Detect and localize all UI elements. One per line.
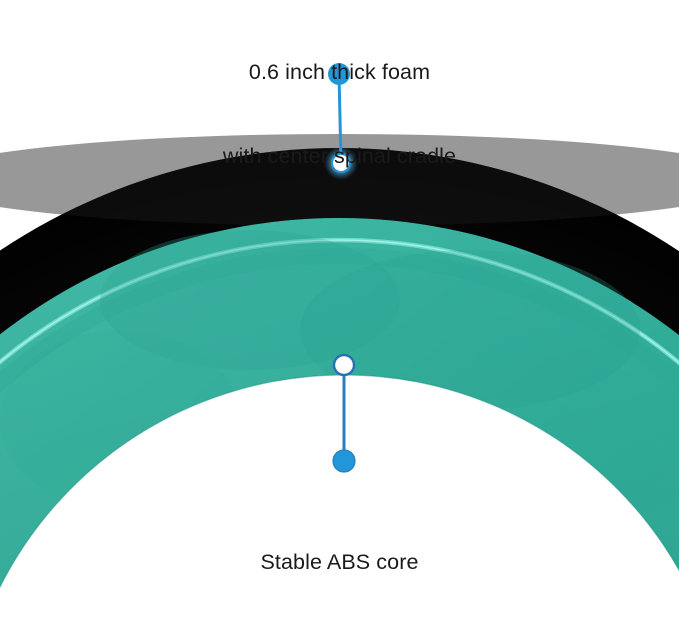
foam-callout-target-dot[interactable] [332,154,350,172]
core-callout-target-dot[interactable] [334,355,354,375]
yoga-wheel-illustration [0,0,679,620]
core-callout-label-dot[interactable] [333,450,355,472]
diagram-canvas: 0.6 inch thick foam with center spinal c… [0,0,679,620]
foam-callout-label-dot[interactable] [328,63,350,85]
